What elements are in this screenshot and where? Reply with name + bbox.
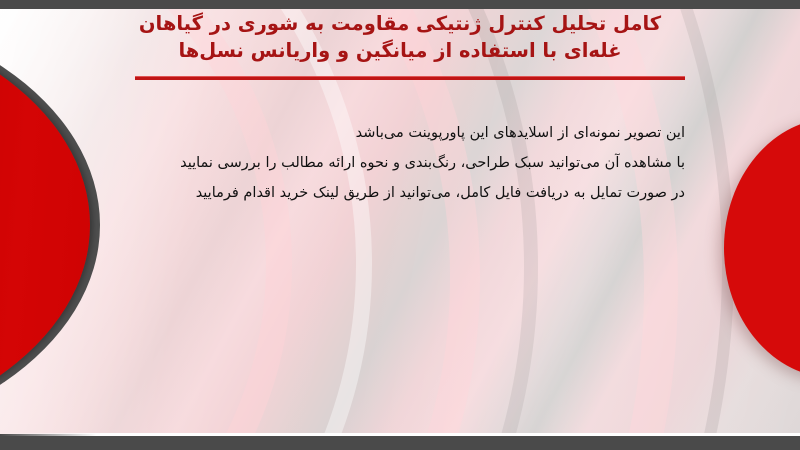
body-line-3: در صورت تمایل به دریافت فایل کامل، می‌تو… [95,178,685,208]
body-line-1: این تصویر نمونه‌ای از اسلایدهای این پاور… [95,118,685,148]
title-line-2: غله‌ای با استفاده از میانگین و واریانس ن… [100,37,700,64]
title-underline-rule [135,76,685,80]
presentation-slide: کامل تحلیل کنترل ژنتیکی مقاومت به شوری د… [0,0,800,450]
title-line-1: کامل تحلیل کنترل ژنتیکی مقاومت به شوری د… [100,10,700,37]
body-line-2: با مشاهده آن می‌توانید سبک طراحی، رنگ‌بن… [95,148,685,178]
slide-title: کامل تحلیل کنترل ژنتیکی مقاومت به شوری د… [100,10,700,64]
slide-body-text: این تصویر نمونه‌ای از اسلایدهای این پاور… [95,118,685,208]
slide-content: کامل تحلیل کنترل ژنتیکی مقاومت به شوری د… [0,0,800,450]
